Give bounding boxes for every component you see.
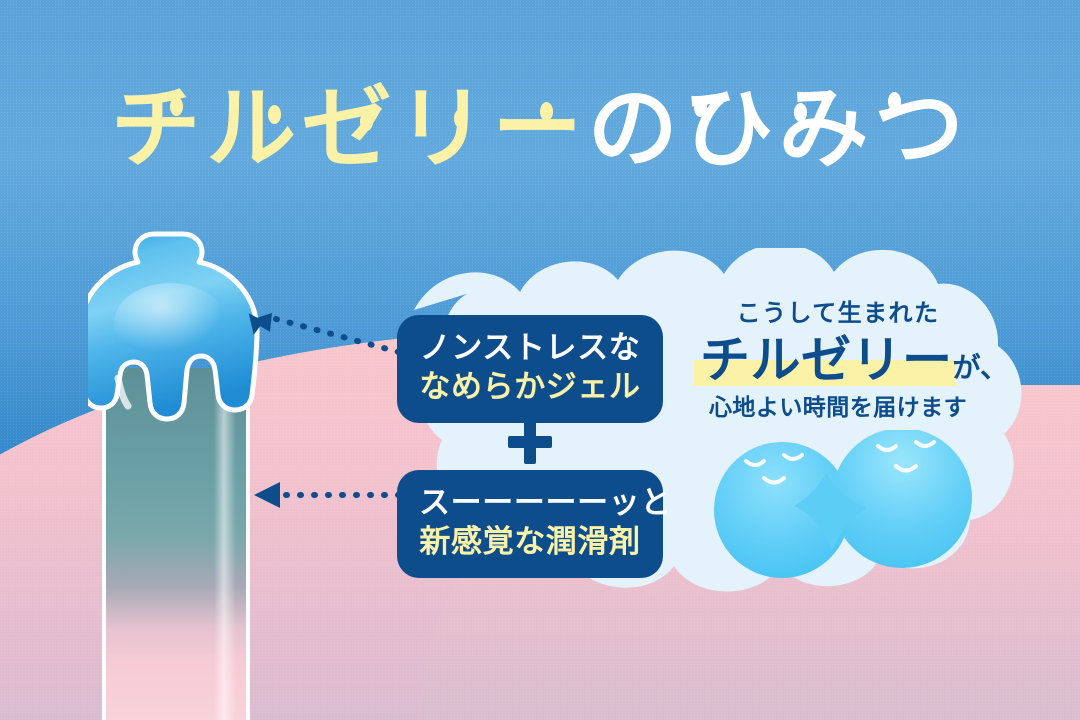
- result-headline: チルゼリー: [700, 333, 953, 388]
- title-white-text: のひみつ: [588, 79, 970, 179]
- jelly-blob-illustration: [706, 430, 974, 580]
- result-text-block: こうして生まれた チルゼリー が、 心地よい時間を届けます: [700, 300, 976, 421]
- result-headline-row: チルゼリー が、: [700, 333, 976, 388]
- badge-lube-line1: スーーーーーッと: [419, 484, 641, 523]
- arrow-to-gel: [246, 306, 406, 368]
- plus-icon: [508, 420, 552, 464]
- result-line-top: こうして生まれた: [700, 300, 976, 329]
- page-title: チルゼリーのひみつ: [0, 84, 1080, 174]
- headline-text: チルゼリー: [700, 332, 953, 388]
- gel-illustration: [88, 228, 278, 720]
- badge-gel-line1: ノンストレスな: [419, 329, 641, 368]
- badge-nonstress-gel[interactable]: ノンストレスな なめらかジェル: [397, 315, 663, 423]
- title-yellow-text: チルゼリー: [111, 79, 588, 179]
- badge-lube-line2: 新感覚な潤滑剤: [419, 523, 641, 562]
- result-headline-suffix: が、: [953, 352, 1008, 383]
- result-line-bottom: 心地よい時間を届けます: [700, 394, 976, 422]
- badge-lubricant[interactable]: スーーーーーッと 新感覚な潤滑剤: [397, 470, 663, 578]
- badge-gel-line2: なめらかジェル: [419, 368, 641, 407]
- arrow-to-column: [252, 480, 404, 512]
- poster-canvas: チルゼリーのひみつ: [0, 0, 1080, 720]
